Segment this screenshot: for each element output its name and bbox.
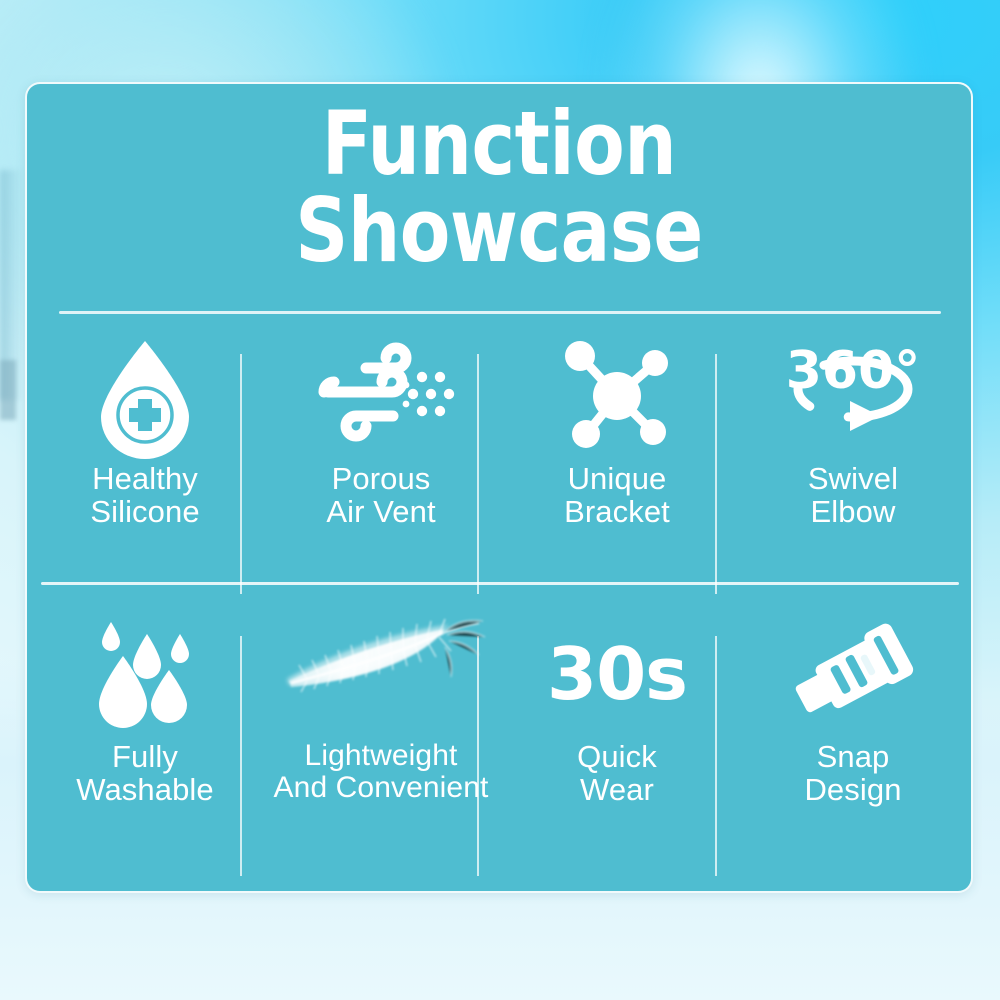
feature-label: Unique Bracket (564, 462, 670, 528)
feature-grid: Healthy Silicone (27, 330, 971, 885)
title-line-2: Showcase (60, 187, 938, 274)
feature-label: Snap Design (804, 740, 901, 806)
feature-label: Healthy Silicone (90, 462, 199, 528)
background-left-edge-dark (0, 360, 16, 420)
wind-airflow-dots-icon (263, 330, 499, 462)
thirty-seconds-text: 30s (547, 638, 687, 710)
page-title: Function Showcase (27, 84, 971, 274)
feature-cell-unique-bracket: Unique Bracket (499, 330, 735, 608)
feature-cell-healthy-silicone: Healthy Silicone (27, 330, 263, 608)
title-divider (59, 311, 941, 314)
function-showcase-card: Function Showcase Healthy Silicone (25, 82, 973, 893)
rotation-360-arrow-icon: 360° (735, 330, 971, 462)
feature-label: Quick Wear (577, 740, 657, 806)
feature-label: Lightweight And Convenient (274, 740, 489, 804)
feature-label: Porous Air Vent (326, 462, 435, 528)
feature-label: Fully Washable (76, 740, 214, 806)
feature-cell-porous-air-vent: Porous Air Vent (263, 330, 499, 608)
title-line-1: Function (60, 100, 938, 187)
feature-cell-snap-design: Snap Design (735, 608, 971, 886)
feature-cell-fully-washable: Fully Washable (27, 608, 263, 886)
droplet-medical-cross-icon (27, 330, 263, 462)
feature-cell-lightweight-and-convenient: Lightweight And Convenient (263, 608, 499, 886)
node-network-hub-icon (499, 330, 735, 462)
feature-cell-swivel-elbow: 360° Swivel Elbow (735, 330, 971, 608)
feather-icon (263, 608, 499, 740)
snap-buckle-icon (735, 608, 971, 740)
svg-text:360°: 360° (786, 341, 921, 401)
thirty-seconds-text-icon: 30s (499, 608, 735, 740)
water-droplets-icon (27, 608, 263, 740)
feature-cell-quick-wear: 30s Quick Wear (499, 608, 735, 886)
feature-label: Swivel Elbow (808, 462, 898, 528)
